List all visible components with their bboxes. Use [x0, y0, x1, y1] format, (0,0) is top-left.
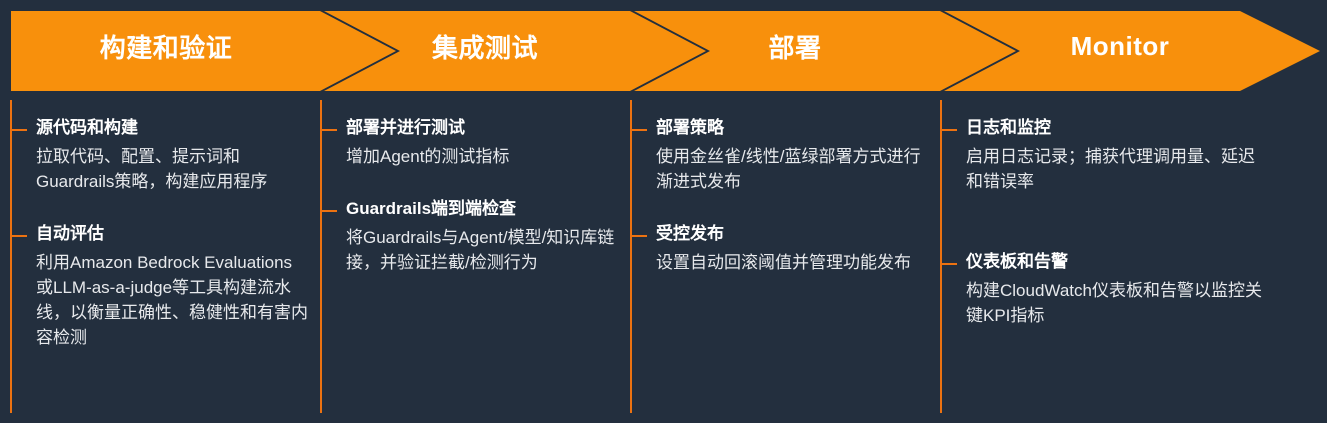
stage-2-block-1: 部署并进行测试 增加Agent的测试指标: [322, 116, 632, 169]
block-title: Guardrails端到端检查: [346, 197, 618, 221]
stage-column-4: 日志和监控 启用日志记录；捕获代理调用量、延迟和错误率 仪表板和告警 构建Clo…: [940, 100, 1280, 413]
block-title: 日志和监控: [966, 116, 1266, 140]
block-body: 利用Amazon Bedrock Evaluations或LLM-as-a-ju…: [36, 250, 308, 350]
pipeline-diagram: 构建和验证 集成测试 部署 Monitor 源代码和构建 拉取代码、配置、提示词…: [0, 0, 1327, 423]
stage-2-block-2: Guardrails端到端检查 将Guardrails与Agent/模型/知识库…: [322, 197, 632, 275]
block-body: 拉取代码、配置、提示词和Guardrails策略，构建应用程序: [36, 144, 308, 194]
block-title: 部署策略: [656, 116, 928, 140]
stage-column-3: 部署策略 使用金丝雀/线性/蓝绿部署方式进行渐进式发布 受控发布 设置自动回滚阈…: [630, 100, 942, 413]
chevron-shape-stage-1: [11, 11, 396, 91]
block-body: 增加Agent的测试指标: [346, 144, 618, 169]
block-body: 构建CloudWatch仪表板和告警以监控关键KPI指标: [966, 278, 1266, 328]
block-title: 源代码和构建: [36, 116, 308, 140]
block-body: 使用金丝雀/线性/蓝绿部署方式进行渐进式发布: [656, 144, 928, 194]
bullet-tick-icon: [322, 210, 337, 212]
stage-1-block-2: 自动评估 利用Amazon Bedrock Evaluations或LLM-as…: [12, 222, 322, 350]
stage-4-block-2: 仪表板和告警 构建CloudWatch仪表板和告警以监控关键KPI指标: [942, 250, 1280, 328]
stage-1-block-1: 源代码和构建 拉取代码、配置、提示词和Guardrails策略，构建应用程序: [12, 116, 322, 194]
block-title: 部署并进行测试: [346, 116, 618, 140]
stage-4-block-1: 日志和监控 启用日志记录；捕获代理调用量、延迟和错误率: [942, 116, 1280, 194]
block-body: 设置自动回滚阈值并管理功能发布: [656, 250, 928, 275]
bullet-tick-icon: [632, 129, 647, 131]
stage-3-block-1: 部署策略 使用金丝雀/线性/蓝绿部署方式进行渐进式发布: [632, 116, 942, 194]
block-title: 受控发布: [656, 222, 928, 246]
block-title: 自动评估: [36, 222, 308, 246]
stage-column-1: 源代码和构建 拉取代码、配置、提示词和Guardrails策略，构建应用程序 自…: [10, 100, 322, 413]
bullet-tick-icon: [942, 129, 957, 131]
block-body: 将Guardrails与Agent/模型/知识库链接，并验证拦截/检测行为: [346, 225, 618, 275]
block-body: 启用日志记录；捕获代理调用量、延迟和错误率: [966, 144, 1266, 194]
stage-chevron-band: 构建和验证 集成测试 部署 Monitor: [0, 0, 1327, 96]
bullet-tick-icon: [942, 263, 957, 265]
stage-3-block-2: 受控发布 设置自动回滚阈值并管理功能发布: [632, 222, 942, 275]
block-title: 仪表板和告警: [966, 250, 1266, 274]
bullet-tick-icon: [12, 129, 27, 131]
bullet-tick-icon: [322, 129, 337, 131]
stage-column-2: 部署并进行测试 增加Agent的测试指标 Guardrails端到端检查 将Gu…: [320, 100, 632, 413]
bullet-tick-icon: [632, 235, 647, 237]
bullet-tick-icon: [12, 235, 27, 237]
